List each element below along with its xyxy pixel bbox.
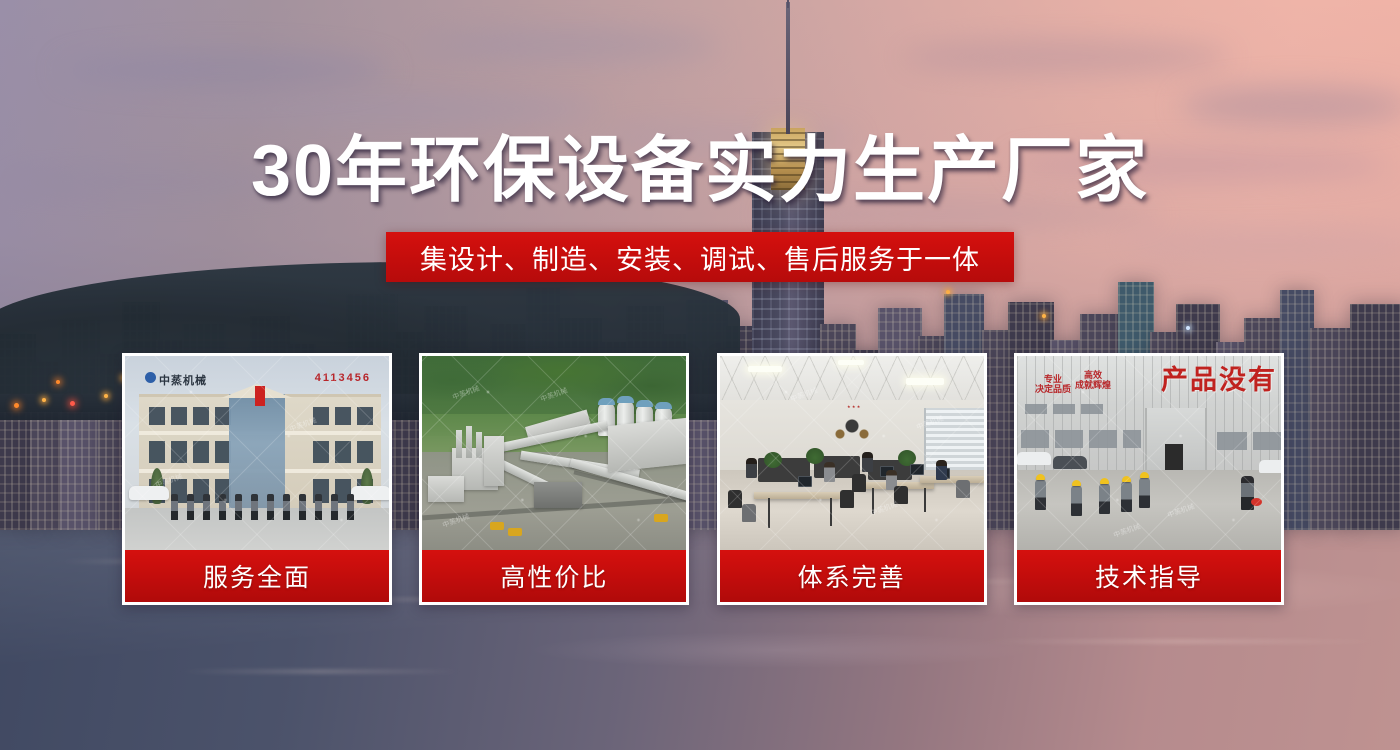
- factory-worker: [1139, 478, 1150, 508]
- factory-window: [1053, 404, 1075, 414]
- factory-slogan-large: 产品没有: [1161, 358, 1277, 397]
- window-blinds: [924, 408, 984, 470]
- factory-window: [1253, 432, 1281, 450]
- plant-tower: [484, 436, 504, 486]
- tower-spire-tip: [787, 0, 789, 8]
- building-window: [149, 441, 165, 463]
- subtitle-bar: 集设计、制造、安装、调试、售后服务于一体: [386, 232, 1014, 282]
- building-window: [357, 441, 373, 463]
- subtitle-text: 集设计、制造、安装、调试、售后服务于一体: [420, 238, 980, 277]
- staff-person: [171, 494, 178, 520]
- feature-card-row: 中蒸机械 4113456 中蒸机械 中蒸: [122, 353, 1284, 605]
- hard-hat-icon: [1036, 474, 1045, 480]
- photo-company-office-building: 中蒸机械 4113456 中蒸机械 中蒸: [125, 356, 389, 556]
- desk-leg: [872, 488, 874, 514]
- parked-car: [351, 486, 389, 500]
- staff-person: [283, 494, 290, 520]
- cloud-wisp: [420, 30, 720, 60]
- hard-hat-icon: [1072, 480, 1081, 486]
- staff-person: [251, 494, 258, 520]
- cloud-wisp: [1180, 86, 1400, 126]
- factory-window: [1081, 404, 1103, 414]
- factory-window: [1055, 430, 1083, 448]
- staff-person: [347, 494, 354, 520]
- red-helmet-held: [1251, 498, 1262, 506]
- photo-aerial-industrial-plant: 中蒸机械 中蒸机械 中蒸机械: [422, 356, 686, 556]
- parked-car: [1053, 456, 1087, 469]
- building-light: [1042, 314, 1046, 318]
- ceiling-light: [906, 378, 944, 385]
- building-window: [193, 441, 209, 463]
- desk-leg: [830, 498, 832, 526]
- office-worker: [824, 462, 835, 482]
- skyline-building: [1350, 304, 1400, 530]
- card-label-bar: 高性价比: [422, 550, 686, 602]
- slogan-right-sub: 成就辉煌: [1075, 380, 1111, 390]
- office-desk: [920, 476, 984, 483]
- office-plant: [764, 452, 782, 468]
- building-window: [335, 407, 351, 425]
- computer-monitor: [798, 476, 812, 487]
- excavator: [654, 514, 668, 522]
- factory-worker: [1099, 484, 1110, 514]
- staff-person: [267, 494, 274, 520]
- card-label-bar: 服务全面: [125, 550, 389, 602]
- feature-card-system[interactable]: ★ ★ ★: [717, 353, 987, 605]
- slogan-left-main: 专业: [1044, 374, 1062, 384]
- staff-person: [299, 494, 306, 520]
- shore-light: [70, 401, 75, 406]
- cloud-wisp: [60, 52, 390, 88]
- building-window: [149, 407, 165, 425]
- tower-spire: [786, 2, 790, 134]
- banner-headline: 30年环保设备实力生产厂家: [0, 131, 1400, 211]
- parked-car: [129, 486, 169, 500]
- building-window: [171, 407, 187, 425]
- office-chair: [728, 490, 742, 508]
- plant-shed: [534, 482, 582, 508]
- wall-decal-text: ★ ★ ★: [828, 404, 880, 409]
- plant-stack: [476, 432, 482, 458]
- card-label-text: 高性价比: [500, 558, 608, 594]
- factory-slogan-right: 高效 成就辉煌: [1075, 370, 1111, 390]
- shore-light: [14, 403, 19, 408]
- card-label-bar: 技术指导: [1017, 550, 1281, 602]
- office-plant: [806, 448, 824, 464]
- parked-car: [1017, 452, 1051, 465]
- plant-office: [428, 476, 464, 502]
- promo-banner: 30年环保设备实力生产厂家 集设计、制造、安装、调试、售后服务于一体: [0, 0, 1400, 750]
- factory-window: [1217, 432, 1247, 450]
- ceiling-light: [748, 366, 782, 372]
- building-light: [946, 290, 950, 294]
- factory-worker: [1035, 480, 1046, 510]
- silo-cap: [655, 402, 672, 409]
- computer-monitor: [910, 464, 924, 475]
- company-name-signage: 中蒸机械: [159, 372, 207, 388]
- building-light: [1186, 326, 1190, 330]
- office-worker: [936, 460, 947, 480]
- hard-hat-icon: [1140, 472, 1149, 478]
- card-label-bar: 体系完善: [720, 550, 984, 602]
- factory-worker: [1071, 486, 1082, 516]
- card-label-text: 技术指导: [1095, 558, 1203, 594]
- cloud-wisp: [900, 40, 1230, 74]
- building-window: [171, 441, 187, 463]
- parked-car: [1259, 460, 1281, 473]
- water-streak: [980, 640, 1380, 643]
- building-window: [313, 441, 329, 463]
- feature-card-value[interactable]: 中蒸机械 中蒸机械 中蒸机械 高性价比: [419, 353, 689, 605]
- factory-slogan-left: 专业 决定品质: [1035, 374, 1071, 394]
- skyline-building: [1280, 290, 1314, 530]
- plant-warehouse: [608, 418, 686, 472]
- shore-light: [104, 394, 108, 398]
- office-chair: [894, 486, 908, 504]
- factory-window: [1021, 430, 1049, 448]
- building-window: [193, 407, 209, 425]
- company-logo-icon: [145, 372, 156, 383]
- staff-person: [331, 494, 338, 520]
- office-chair: [852, 474, 866, 492]
- feature-card-technical[interactable]: 产品没有 专业 决定品质 高效 成就辉煌: [1014, 353, 1284, 605]
- staff-person: [203, 494, 210, 520]
- building-window: [357, 407, 373, 425]
- wall-decal-icon: [830, 410, 874, 444]
- feature-card-service[interactable]: 中蒸机械 4113456 中蒸机械 中蒸: [122, 353, 392, 605]
- cloud-wisp: [180, 96, 600, 122]
- national-flag: [255, 386, 265, 406]
- desk-leg: [924, 488, 926, 512]
- staff-person: [219, 494, 226, 520]
- card-label-text: 体系完善: [798, 558, 906, 594]
- hard-hat-icon: [1122, 476, 1131, 482]
- hard-hat-icon: [1100, 478, 1109, 484]
- photo-factory-workers-training: 产品没有 专业 决定品质 高效 成就辉煌: [1017, 356, 1281, 556]
- factory-window: [1025, 404, 1047, 414]
- office-worker: [746, 458, 757, 478]
- excavator: [508, 528, 522, 536]
- shore-light: [56, 380, 60, 384]
- staff-person: [235, 494, 242, 520]
- water-streak: [180, 670, 460, 673]
- plant-stack: [466, 426, 472, 458]
- office-desk: [754, 492, 840, 499]
- excavator: [490, 522, 504, 530]
- factory-window: [1123, 430, 1141, 448]
- skyline-building: [1310, 328, 1354, 530]
- office-chair: [956, 480, 970, 498]
- desk-leg: [768, 498, 770, 528]
- silo-cap: [636, 400, 653, 407]
- building-window: [313, 407, 329, 425]
- factory-window: [1089, 430, 1117, 448]
- building-window: [335, 441, 351, 463]
- factory-worker: [1121, 482, 1132, 512]
- slogan-left-sub: 决定品质: [1035, 384, 1071, 394]
- ceiling-light: [838, 360, 864, 365]
- plant-stack: [456, 430, 462, 458]
- office-chair: [742, 504, 756, 522]
- factory-door: [1165, 444, 1183, 472]
- shore-light: [42, 398, 46, 402]
- staff-person: [315, 494, 322, 520]
- slogan-right-main: 高效: [1084, 370, 1102, 380]
- staff-person: [187, 494, 194, 520]
- photo-open-plan-office: ★ ★ ★: [720, 356, 984, 556]
- office-chair: [840, 490, 854, 508]
- silo-cap: [598, 398, 615, 405]
- office-worker: [862, 452, 873, 472]
- silo-cap: [617, 396, 634, 403]
- phone-number-signage: 4113456: [315, 372, 371, 384]
- card-label-text: 服务全面: [203, 558, 311, 594]
